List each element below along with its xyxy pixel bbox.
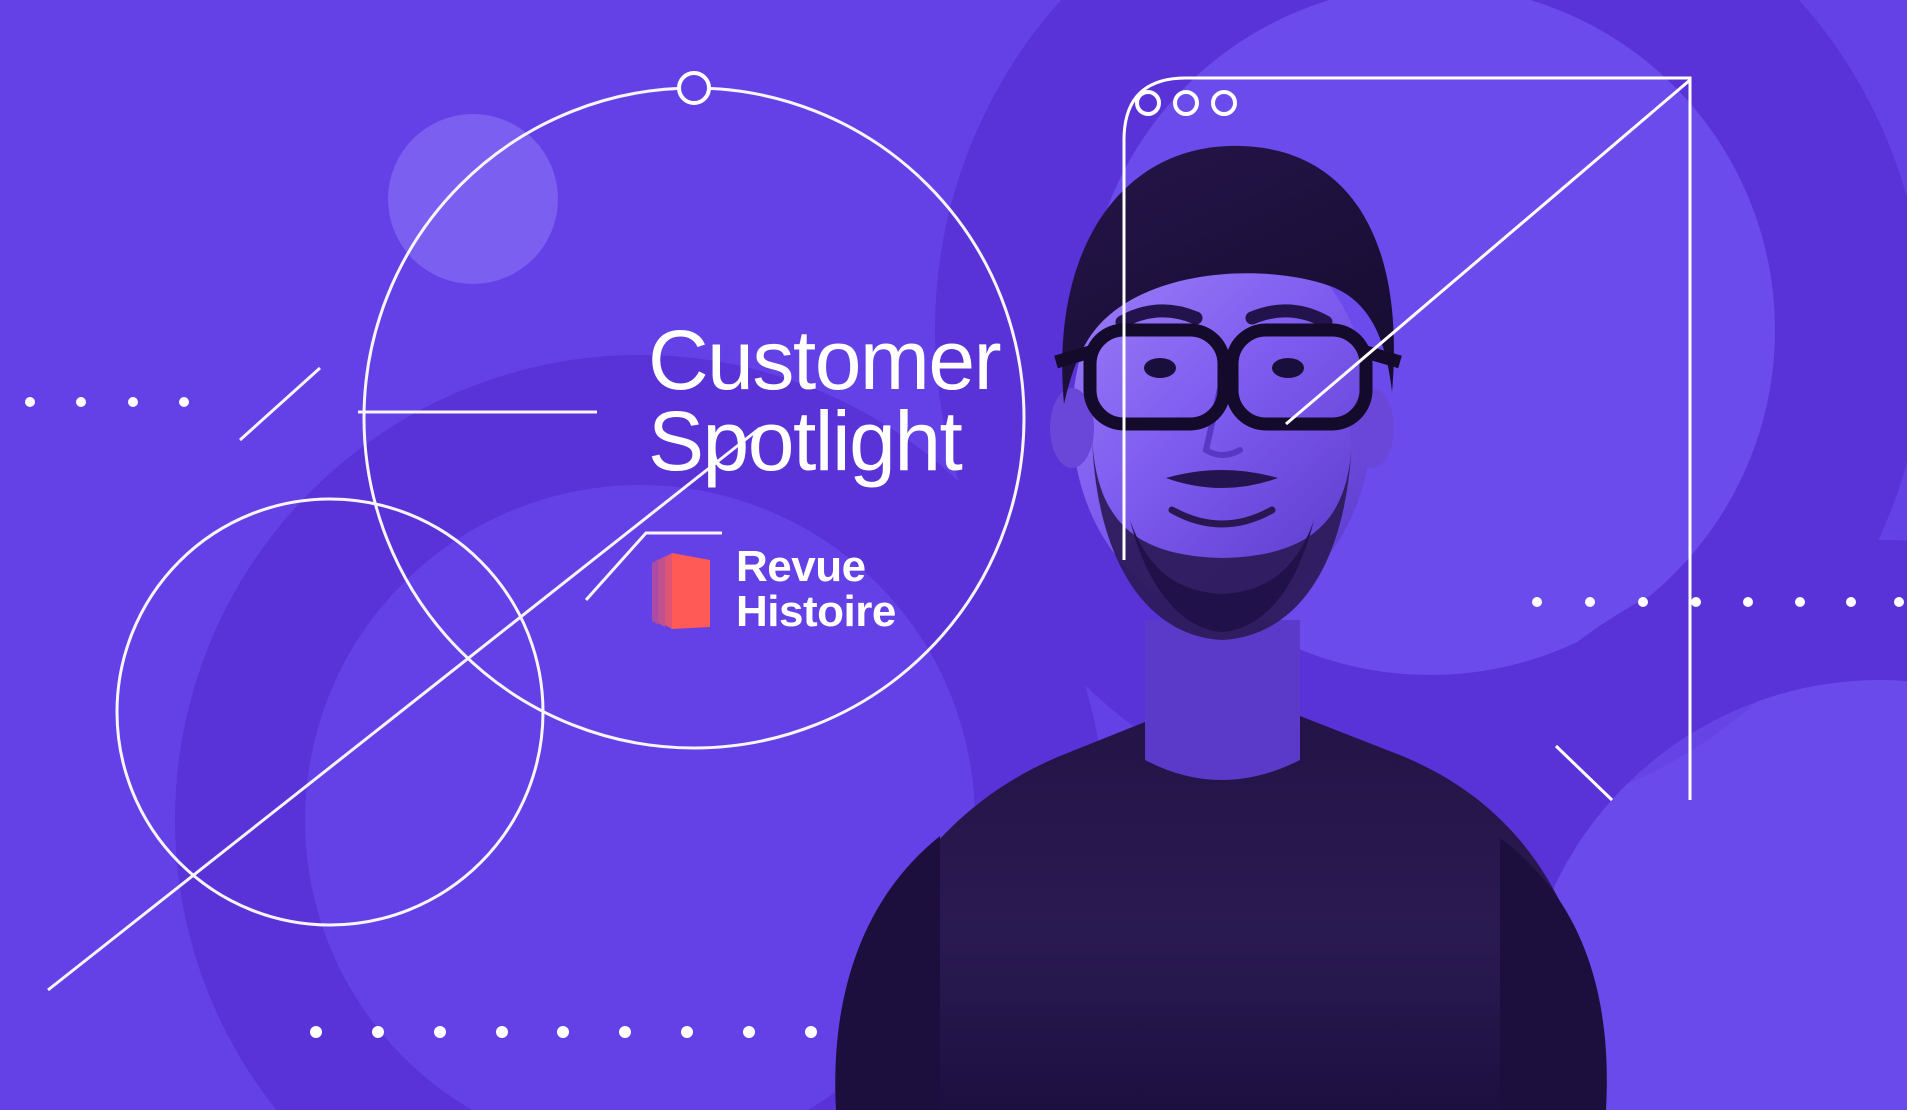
- dot-row-right: [1532, 597, 1904, 607]
- customer-spotlight-banner: Customer Spotlight Revue Histoire: [0, 0, 1907, 1110]
- window-dot-2: [1175, 92, 1197, 114]
- logo-wordmark: Revue Histoire: [736, 545, 896, 635]
- diagonal-line-window-corner: [1286, 80, 1690, 424]
- outline-circle-small: [117, 499, 543, 925]
- circle-node-marker: [679, 73, 709, 103]
- window-dot-3: [1213, 92, 1235, 114]
- window-dot-1: [1137, 92, 1159, 114]
- book-icon: [648, 547, 714, 633]
- browser-window-outline: [1124, 78, 1690, 800]
- diagonal-dash-short: [240, 368, 320, 440]
- page-title: Customer Spotlight: [648, 320, 1078, 483]
- dot-row-left: [25, 397, 189, 407]
- diagonal-line-bottom-right: [1556, 746, 1612, 800]
- dot-row-bottom: [310, 1026, 817, 1038]
- revue-histoire-logo[interactable]: Revue Histoire: [648, 545, 1078, 635]
- spotlight-content: Customer Spotlight Revue Histoire: [648, 320, 1078, 635]
